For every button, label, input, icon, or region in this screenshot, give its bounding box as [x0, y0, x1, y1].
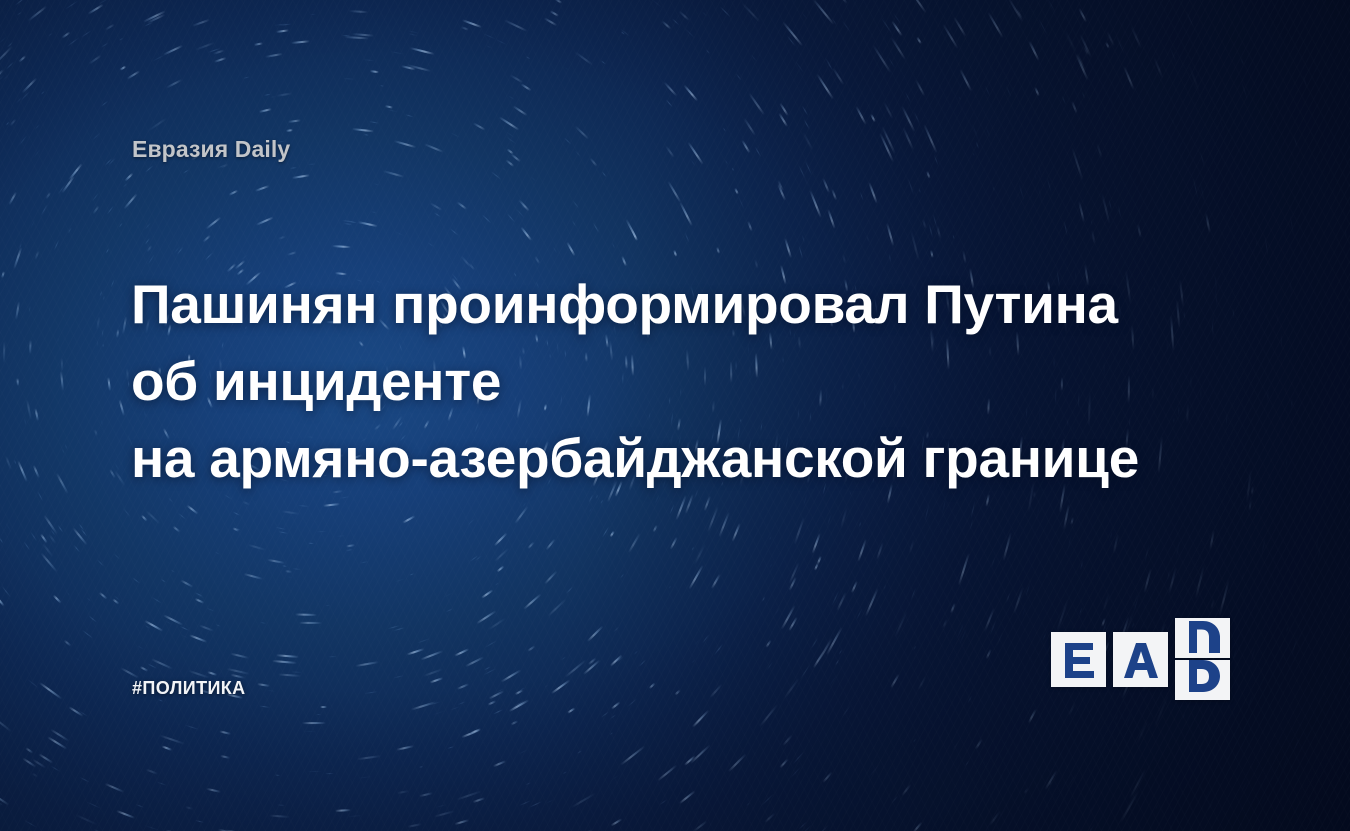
logo-tile-a: [1113, 632, 1168, 687]
logo-tile-d-stack: [1175, 618, 1230, 700]
news-card: Евразия Daily Пашинян проинформировал Пу…: [0, 0, 1350, 831]
eadaily-logo[interactable]: [1051, 632, 1230, 700]
brand-wordmark: Евразия Daily: [132, 136, 290, 163]
logo-tile-e: [1051, 632, 1106, 687]
logo-letter-a-icon: [1123, 641, 1159, 679]
logo-letter-e-icon: [1062, 641, 1096, 679]
logo-tile-d-top: [1175, 618, 1230, 658]
logo-tile-d-bottom: [1175, 660, 1230, 700]
headline: Пашинян проинформировал Путина об инциде…: [131, 266, 1251, 497]
headline-line-1: Пашинян проинформировал Путина: [131, 266, 1251, 343]
logo-letter-d-lower-icon: [1186, 660, 1220, 699]
card-content: Евразия Daily Пашинян проинформировал Пу…: [0, 0, 1350, 831]
headline-line-2: об инциденте: [131, 343, 1251, 420]
headline-line-3: на армяно-азербайджанской границе: [131, 420, 1251, 497]
logo-letter-d-upper-icon: [1186, 619, 1220, 658]
category-tag[interactable]: #ПОЛИТИКА: [132, 678, 246, 699]
